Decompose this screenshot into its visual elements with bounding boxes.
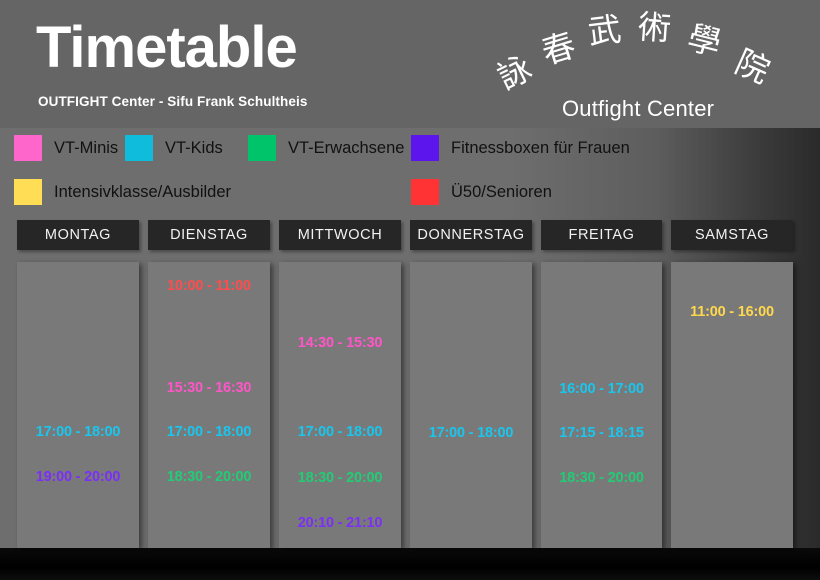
legend-item: Intensivklasse/Ausbilder — [14, 178, 231, 206]
day-column-samstag: 11:00 - 16:00 — [671, 262, 793, 548]
class-slot[interactable]: 17:00 - 18:00 — [410, 425, 532, 441]
legend-color-swatch — [125, 135, 153, 161]
legend-item: Ü50/Senioren — [411, 178, 552, 206]
page-header: Timetable OUTFIGHT Center - Sifu Frank S… — [0, 0, 820, 128]
legend: VT-MinisVT-KidsVT-ErwachseneFitnessboxen… — [0, 130, 820, 214]
day-column-montag: 17:00 - 18:0019:00 - 20:00 — [17, 262, 139, 548]
class-slot[interactable]: 17:00 - 18:00 — [148, 424, 270, 440]
class-slot[interactable]: 20:10 - 21:10 — [279, 515, 401, 531]
class-slot[interactable]: 10:00 - 11:00 — [148, 278, 270, 294]
legend-row: VT-MinisVT-KidsVT-ErwachseneFitnessboxen… — [0, 134, 820, 172]
page-subtitle: OUTFIGHT Center - Sifu Frank Schultheis — [38, 94, 307, 109]
day-header-mittwoch[interactable]: MITTWOCH — [279, 220, 401, 250]
legend-label: Fitnessboxen für Frauen — [451, 139, 630, 158]
logo-cjk-char-4: 學 — [684, 20, 724, 60]
day-column-mittwoch: 14:30 - 15:3017:00 - 18:0018:30 - 20:002… — [279, 262, 401, 548]
logo: 詠春武術學院 Outfight Center — [490, 8, 810, 126]
logo-cjk-char-1: 春 — [538, 28, 579, 69]
logo-cjk-characters: 詠春武術學院 — [490, 8, 810, 98]
day-header-label: DONNERSTAG — [417, 227, 524, 243]
legend-label: Ü50/Senioren — [451, 183, 552, 202]
class-slot[interactable]: 17:15 - 18:15 — [541, 425, 662, 441]
logo-cjk-char-5: 院 — [731, 45, 775, 89]
class-slot[interactable]: 18:30 - 20:00 — [148, 469, 270, 485]
legend-color-swatch — [411, 179, 439, 205]
class-slot[interactable]: 17:00 - 18:00 — [279, 424, 401, 440]
day-header-samstag[interactable]: SAMSTAG — [671, 220, 793, 250]
legend-item: VT-Minis — [14, 134, 118, 162]
day-header-label: DIENSTAG — [170, 227, 248, 243]
class-slot[interactable]: 17:00 - 18:00 — [17, 424, 139, 440]
page-title: Timetable — [36, 19, 297, 77]
legend-row: Intensivklasse/AusbilderÜ50/Senioren — [0, 178, 820, 216]
schedule-columns: 17:00 - 18:0019:00 - 20:0010:00 - 11:001… — [0, 262, 820, 548]
footer-background — [0, 548, 820, 580]
legend-item: VT-Kids — [125, 134, 223, 162]
class-slot[interactable]: 19:00 - 20:00 — [17, 469, 139, 485]
day-header-label: MITTWOCH — [298, 227, 383, 243]
legend-label: VT-Erwachsene — [288, 139, 404, 158]
class-slot[interactable]: 18:30 - 20:00 — [279, 470, 401, 486]
day-headers: MONTAGDIENSTAGMITTWOCHDONNERSTAGFREITAGS… — [0, 220, 820, 254]
day-header-donnerstag[interactable]: DONNERSTAG — [410, 220, 532, 250]
logo-name: Outfight Center — [562, 96, 714, 122]
class-slot[interactable]: 14:30 - 15:30 — [279, 335, 401, 351]
logo-cjk-char-0: 詠 — [492, 50, 536, 94]
legend-color-swatch — [14, 135, 42, 161]
legend-item: VT-Erwachsene — [248, 134, 404, 162]
legend-color-swatch — [411, 135, 439, 161]
legend-label: VT-Minis — [54, 139, 118, 158]
day-column-dienstag: 10:00 - 11:0015:30 - 16:3017:00 - 18:001… — [148, 262, 270, 548]
class-slot[interactable]: 11:00 - 16:00 — [671, 304, 793, 320]
legend-label: VT-Kids — [165, 139, 223, 158]
logo-cjk-char-3: 術 — [637, 10, 672, 45]
day-header-dienstag[interactable]: DIENSTAG — [148, 220, 270, 250]
logo-cjk-char-2: 武 — [586, 12, 623, 49]
class-slot[interactable]: 18:30 - 20:00 — [541, 470, 662, 486]
legend-label: Intensivklasse/Ausbilder — [54, 183, 231, 202]
legend-color-swatch — [14, 179, 42, 205]
class-slot[interactable]: 15:30 - 16:30 — [148, 380, 270, 396]
day-header-label: FREITAG — [569, 227, 635, 243]
day-header-montag[interactable]: MONTAG — [17, 220, 139, 250]
day-column-donnerstag: 17:00 - 18:00 — [410, 262, 532, 548]
day-header-label: MONTAG — [45, 227, 111, 243]
legend-color-swatch — [248, 135, 276, 161]
day-header-label: SAMSTAG — [695, 227, 769, 243]
class-slot[interactable]: 16:00 - 17:00 — [541, 381, 662, 397]
day-column-freitag: 16:00 - 17:0017:15 - 18:1518:30 - 20:00 — [541, 262, 662, 548]
legend-item: Fitnessboxen für Frauen — [411, 134, 630, 162]
day-header-freitag[interactable]: FREITAG — [541, 220, 662, 250]
